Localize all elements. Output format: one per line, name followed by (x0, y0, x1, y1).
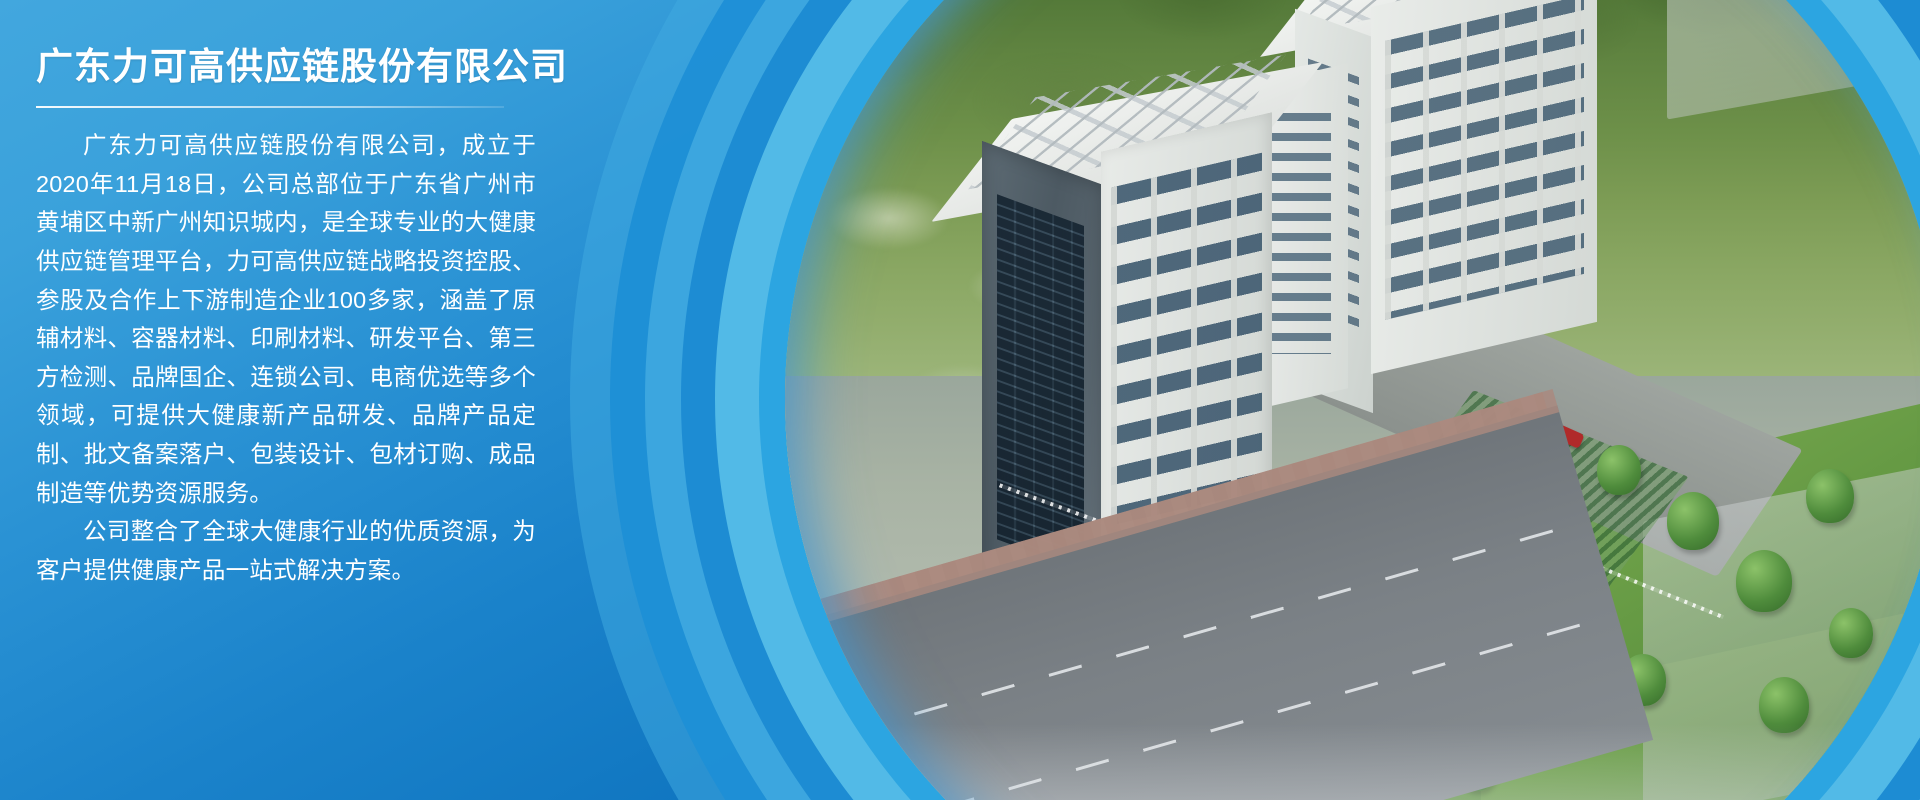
company-profile-banner: 广东力可高供应链股份有限公司 广东力可高供应链股份有限公司，成立于2020年11… (0, 0, 1920, 800)
building-photo (785, 0, 1920, 800)
bottom-mist-overlay (785, 724, 1920, 800)
tree (1667, 492, 1719, 550)
company-title: 广东力可高供应链股份有限公司 (36, 44, 536, 90)
tree (1806, 469, 1854, 523)
text-column: 广东力可高供应链股份有限公司 广东力可高供应链股份有限公司，成立于2020年11… (36, 44, 536, 589)
tree (1829, 608, 1873, 658)
title-divider (36, 106, 504, 108)
description-paragraph-1: 广东力可高供应链股份有限公司，成立于2020年11月18日，公司总部位于广东省广… (36, 126, 536, 512)
tree (1597, 445, 1641, 495)
rear-right-facade (1371, 0, 1597, 375)
building-photo-disc (785, 0, 1920, 800)
core-windows (1272, 113, 1331, 353)
rear-window-mullions (1384, 0, 1583, 320)
company-description: 广东力可高供应链股份有限公司，成立于2020年11月18日，公司总部位于广东省广… (36, 126, 536, 589)
front-curtain-wall (997, 194, 1085, 571)
description-paragraph-2: 公司整合了全球大健康行业的优质资源，为客户提供健康产品一站式解决方案。 (36, 512, 536, 589)
tree (1736, 550, 1792, 612)
